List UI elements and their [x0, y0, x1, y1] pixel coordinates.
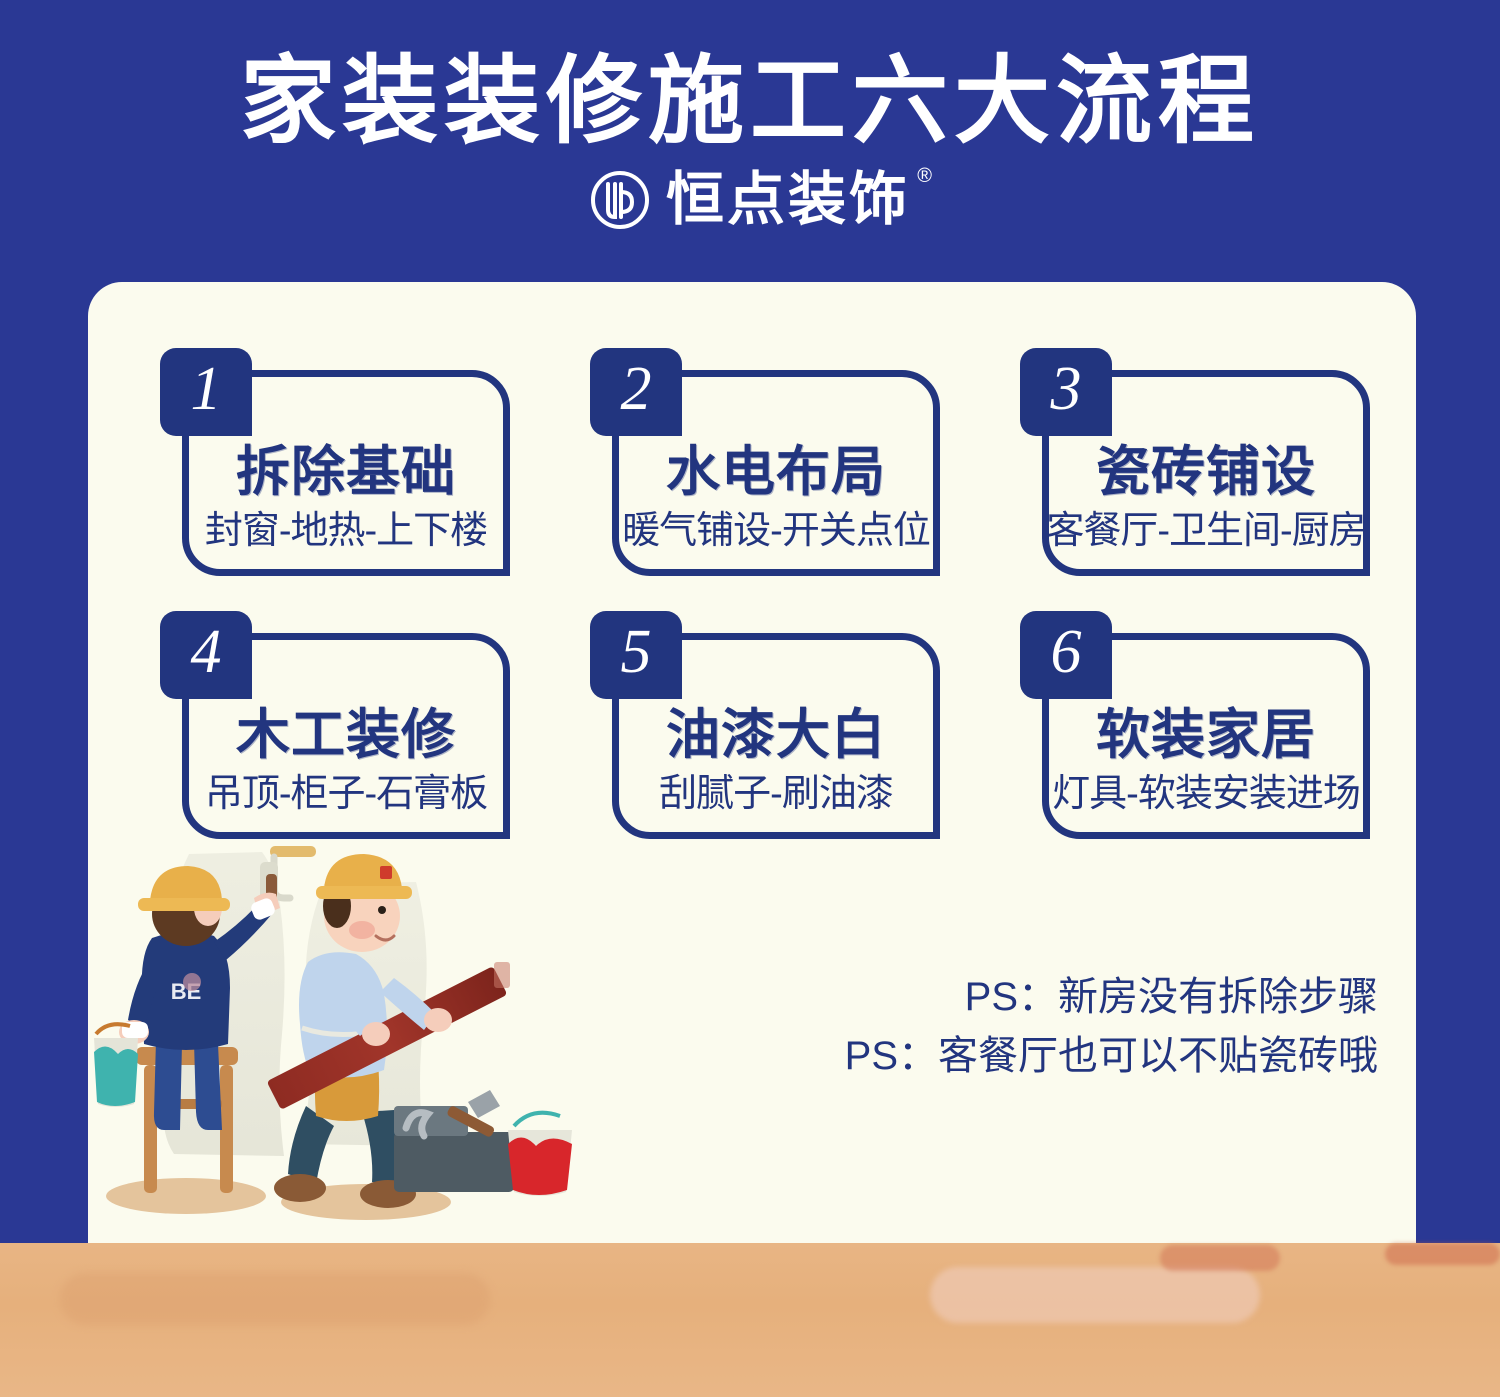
- step-number-badge: 6: [1020, 611, 1112, 699]
- steps-grid: 1 拆除基础 封窗-地热-上下楼 2 水电布局 暖气铺设-开关点位: [160, 348, 1390, 839]
- sand-floor-band: [0, 1243, 1500, 1397]
- step-number-badge: 2: [590, 348, 682, 436]
- step-number: 2: [621, 358, 652, 426]
- poster-root: 家装装修施工六大流程 恒点装饰 ® 1: [0, 0, 1500, 1397]
- step-card-body: 木工装修 吊顶-柜子-石膏板: [182, 683, 510, 839]
- step-title: 木工装修: [236, 706, 456, 764]
- poster-header: 家装装修施工六大流程 恒点装饰 ®: [0, 0, 1500, 282]
- step-subtitle: 客餐厅-卫生间-厨房: [1046, 511, 1365, 553]
- step-number-badge: 4: [160, 611, 252, 699]
- step-subtitle: 吊顶-柜子-石膏板: [205, 774, 487, 816]
- step-card-body: 油漆大白 刮腻子-刷油漆: [612, 683, 940, 839]
- step-title: 拆除基础: [236, 443, 456, 501]
- hengdian-circle-logo-icon: [590, 170, 650, 230]
- step-subtitle: 灯具-软装安装进场: [1052, 774, 1360, 816]
- step-title: 软装家居: [1096, 706, 1316, 764]
- step-card-3[interactable]: 3 瓷砖铺设 客餐厅-卫生间-厨房: [1020, 348, 1370, 576]
- step-subtitle: 封窗-地热-上下楼: [205, 511, 487, 553]
- brand-name: 恒点装饰: [666, 167, 910, 232]
- brand-logo-wrapper: [590, 170, 650, 230]
- registered-trademark-icon: ®: [917, 165, 932, 188]
- step-number: 5: [621, 621, 652, 689]
- two-construction-workers-illustration: BE: [94, 844, 614, 1244]
- step-number-badge: 1: [160, 348, 252, 436]
- step-number: 6: [1051, 621, 1082, 689]
- step-title: 油漆大白: [666, 706, 886, 764]
- step-number-badge: 3: [1020, 348, 1112, 436]
- ps-note-2: PS：客餐厅也可以不贴瓷砖哦: [845, 1027, 1378, 1086]
- step-title: 水电布局: [666, 443, 886, 501]
- step-number: 1: [191, 358, 222, 426]
- step-card-5[interactable]: 5 油漆大白 刮腻子-刷油漆: [590, 611, 940, 839]
- page-title: 家装装修施工六大流程: [0, 0, 1500, 156]
- brand-name-wrapper: 恒点装饰 ®: [666, 171, 910, 229]
- sand-texture-blotch: [1160, 1245, 1280, 1271]
- step-card-2[interactable]: 2 水电布局 暖气铺设-开关点位: [590, 348, 940, 576]
- step-card-1[interactable]: 1 拆除基础 封窗-地热-上下楼: [160, 348, 510, 576]
- step-subtitle: 刮腻子-刷油漆: [659, 774, 893, 816]
- step-card-body: 瓷砖铺设 客餐厅-卫生间-厨房: [1042, 420, 1370, 576]
- step-subtitle: 暖气铺设-开关点位: [622, 511, 930, 553]
- sand-texture-blotch: [60, 1273, 490, 1325]
- ground-shadow: [106, 1178, 266, 1214]
- step-number: 3: [1051, 358, 1082, 426]
- ps-note-1: PS：新房没有拆除步骤: [845, 968, 1378, 1027]
- step-number-badge: 5: [590, 611, 682, 699]
- step-title: 瓷砖铺设: [1096, 443, 1316, 501]
- step-card-4[interactable]: 4 木工装修 吊顶-柜子-石膏板: [160, 611, 510, 839]
- sand-texture-blotch: [1385, 1243, 1500, 1265]
- step-card-body: 拆除基础 封窗-地热-上下楼: [182, 420, 510, 576]
- step-card-body: 软装家居 灯具-软装安装进场: [1042, 683, 1370, 839]
- sand-texture-blotch: [930, 1267, 1260, 1323]
- ps-notes: PS：新房没有拆除步骤 PS：客餐厅也可以不贴瓷砖哦: [845, 968, 1378, 1086]
- brand-row: 恒点装饰 ®: [0, 170, 1500, 230]
- paint-bucket-red-icon: [508, 1113, 572, 1196]
- step-number: 4: [191, 621, 222, 689]
- step-card-6[interactable]: 6 软装家居 灯具-软装安装进场: [1020, 611, 1370, 839]
- content-panel: 1 拆除基础 封窗-地热-上下楼 2 水电布局 暖气铺设-开关点位: [88, 282, 1416, 1244]
- step-card-body: 水电布局 暖气铺设-开关点位: [612, 420, 940, 576]
